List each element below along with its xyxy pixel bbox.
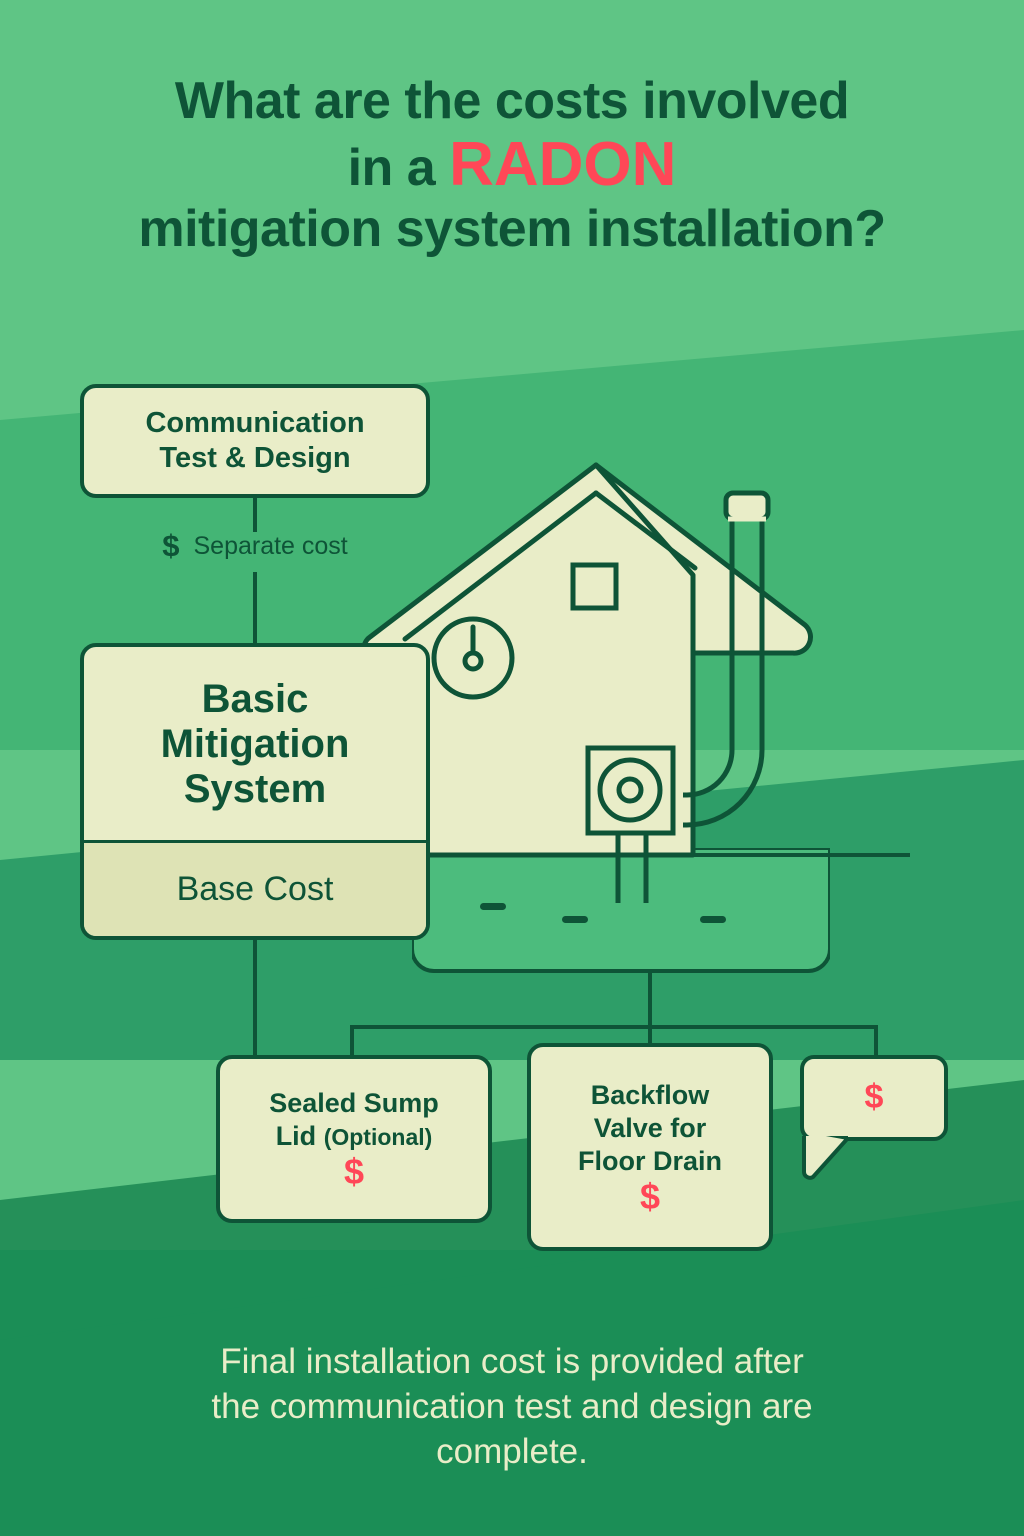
node-sealed-sump-lid[interactable]: Sealed Sump Lid (Optional) $: [216, 1055, 492, 1223]
communication-line-1: Communication: [145, 406, 364, 441]
basic-system-title: Basic Mitigation System: [84, 647, 426, 840]
backflow-price-icon: $: [640, 1178, 660, 1216]
communication-line-2: Test & Design: [159, 441, 350, 476]
dollar-icon: $: [162, 528, 179, 564]
connector-basic-to-sump: [253, 940, 257, 1055]
node-cost-bubble[interactable]: $: [800, 1055, 948, 1141]
infographic-canvas: What are the costs involved in a RADON m…: [0, 0, 1024, 1536]
connector-bus-left-drop: [350, 1025, 354, 1057]
bubble-price-icon: $: [865, 1080, 884, 1116]
backflow-line-2: Valve for: [594, 1112, 707, 1145]
footer-line-3: complete.: [52, 1430, 972, 1475]
base-cost-label: Base Cost: [84, 840, 426, 936]
basic-line-2: Mitigation: [161, 722, 350, 767]
sump-line-1: Sealed Sump: [269, 1087, 439, 1120]
connector-comm-to-label: [253, 498, 257, 532]
sump-line-2-main: Lid: [276, 1121, 317, 1151]
title-line-2: in a RADON: [0, 130, 1024, 199]
speech-bubble-tail-icon: [802, 1136, 848, 1180]
footer-note: Final installation cost is provided afte…: [52, 1340, 972, 1474]
connector-bus: [350, 1025, 878, 1029]
pressure-gauge-icon: [434, 619, 512, 697]
title-line-2-prefix: in a: [348, 139, 436, 197]
node-communication-test[interactable]: Communication Test & Design: [80, 384, 430, 498]
sump-price-icon: $: [344, 1153, 364, 1191]
title-line-3: mitigation system installation?: [0, 200, 1024, 258]
basic-line-3: System: [161, 767, 350, 812]
separate-cost-label: $ Separate cost: [80, 528, 430, 564]
connector-bus-mid-drop: [648, 1025, 652, 1045]
title-line-1: What are the costs involved: [0, 72, 1024, 130]
basic-line-1: Basic: [161, 677, 350, 722]
footer-line-2: the communication test and design are: [52, 1385, 972, 1430]
backflow-line-3: Floor Drain: [578, 1145, 722, 1178]
footer-line-1: Final installation cost is provided afte…: [52, 1340, 972, 1385]
connector-label-to-basic: [253, 572, 257, 643]
page-title: What are the costs involved in a RADON m…: [0, 72, 1024, 258]
node-basic-mitigation-system[interactable]: Basic Mitigation System Base Cost: [80, 643, 430, 940]
house-illustration: [350, 455, 910, 995]
title-accent-radon: RADON: [449, 130, 676, 199]
connector-bus-right-drop: [874, 1025, 878, 1057]
separate-cost-text: Separate cost: [193, 532, 347, 561]
sump-optional-note: (Optional): [324, 1124, 433, 1150]
radon-fan-icon: [588, 748, 673, 833]
node-backflow-valve[interactable]: Backflow Valve for Floor Drain $: [527, 1043, 773, 1251]
sump-line-2: Lid (Optional): [276, 1120, 433, 1153]
backflow-line-1: Backflow: [591, 1079, 710, 1112]
